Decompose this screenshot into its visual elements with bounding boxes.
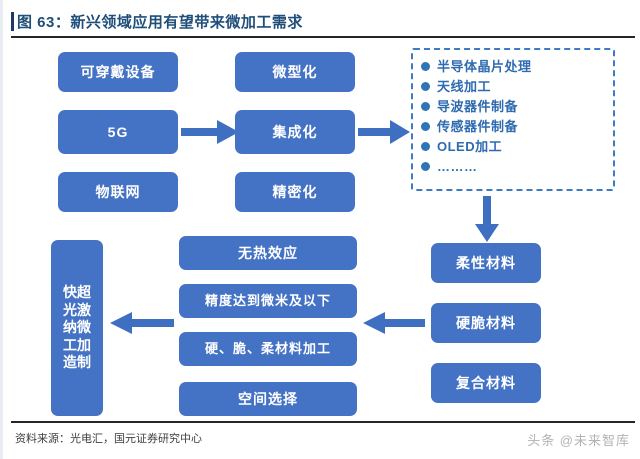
arrow-applications-to-materials: [475, 196, 499, 242]
node-wearable-device[interactable]: 可穿戴设备: [58, 52, 178, 92]
applications-list-box: 半导体晶片处理 天线加工 导波器件制备 传感器件制备 OLED加工 ………: [411, 48, 615, 191]
bullet-icon: [421, 162, 430, 171]
node-precision[interactable]: 精密化: [235, 172, 355, 212]
node-5g[interactable]: 5G: [58, 110, 178, 154]
list-item: 导波器件制备: [421, 96, 607, 116]
core-node-column-right: 超 激 微 加 制: [77, 284, 91, 372]
node-integration[interactable]: 集成化: [235, 110, 355, 154]
bullet-icon: [421, 142, 430, 151]
list-item-label: 天线加工: [437, 80, 491, 93]
list-item-label: 导波器件制备: [437, 100, 518, 113]
core-node-text: 超 激 微 加 制 快 光 纳 工 造: [63, 284, 91, 372]
node-hard-brittle-material[interactable]: 硬脆材料: [431, 303, 541, 343]
node-composite-material[interactable]: 复合材料: [431, 363, 541, 403]
header-divider: [11, 36, 635, 38]
source-note: 资料来源：光电汇，国元证券研究中心: [15, 430, 202, 446]
node-no-thermal-effect[interactable]: 无热效应: [179, 236, 357, 270]
list-item: ………: [421, 156, 607, 176]
list-item: 天线加工: [421, 76, 607, 96]
list-item-label: ………: [437, 160, 478, 173]
bullet-icon: [421, 122, 430, 131]
node-flexible-material[interactable]: 柔性材料: [431, 243, 541, 283]
list-item: 传感器件制备: [421, 116, 607, 136]
bullet-icon: [421, 102, 430, 111]
node-ultrafast-laser-micro-nano-manufacturing[interactable]: 超 激 微 加 制 快 光 纳 工 造: [51, 240, 103, 416]
node-micron-precision[interactable]: 精度达到微米及以下: [179, 284, 357, 318]
footer-divider: [11, 421, 635, 423]
node-spatial-selection[interactable]: 空间选择: [179, 382, 357, 416]
figure-header: 图 63：新兴领域应用有望带来微加工需求: [3, 0, 640, 40]
page-title: 图 63：新兴领域应用有望带来微加工需求: [17, 11, 303, 32]
node-iot[interactable]: 物联网: [58, 172, 178, 212]
bullet-icon: [421, 82, 430, 91]
arrow-capabilities-to-core: [110, 312, 174, 334]
applications-list: 半导体晶片处理 天线加工 导波器件制备 传感器件制备 OLED加工 ………: [421, 56, 607, 176]
node-hard-brittle-flexible-processing[interactable]: 硬、脆、柔材料加工: [179, 332, 357, 366]
arrow-col1-to-col2: [181, 120, 239, 144]
watermark: 头条 @未来智库: [527, 430, 630, 449]
list-item-label: 传感器件制备: [437, 120, 518, 133]
arrow-materials-to-capabilities: [363, 312, 425, 334]
list-item-label: 半导体晶片处理: [437, 60, 532, 73]
bullet-icon: [421, 62, 430, 71]
core-node-column-left: 快 光 纳 工 造: [63, 284, 77, 372]
node-miniaturization[interactable]: 微型化: [235, 52, 355, 92]
title-accent-bar: [11, 12, 14, 31]
arrow-col2-to-applications: [358, 120, 410, 144]
list-item: OLED加工: [421, 136, 607, 156]
list-item: 半导体晶片处理: [421, 56, 607, 76]
list-item-label: OLED加工: [437, 140, 502, 153]
figure-page: 图 63：新兴领域应用有望带来微加工需求 可穿戴设备 5G 物联网 微型化 集成…: [0, 0, 640, 459]
